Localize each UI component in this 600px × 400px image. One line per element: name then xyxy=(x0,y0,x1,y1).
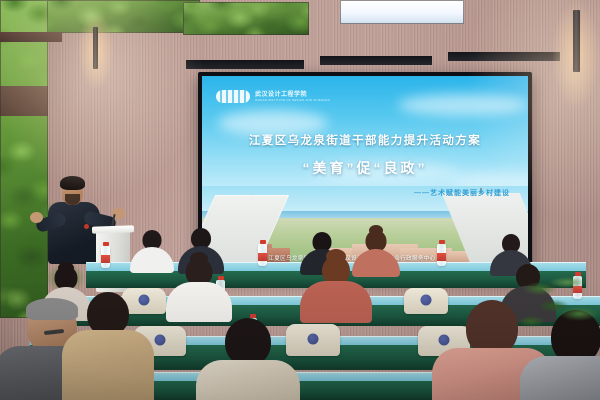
screenshot-root: 江夏区乌龙泉街道办事处 · 武汉设计工程学院 综合行政服务中心 武汉设计工程学院… xyxy=(0,0,600,400)
warm-light-overlay xyxy=(0,0,600,400)
